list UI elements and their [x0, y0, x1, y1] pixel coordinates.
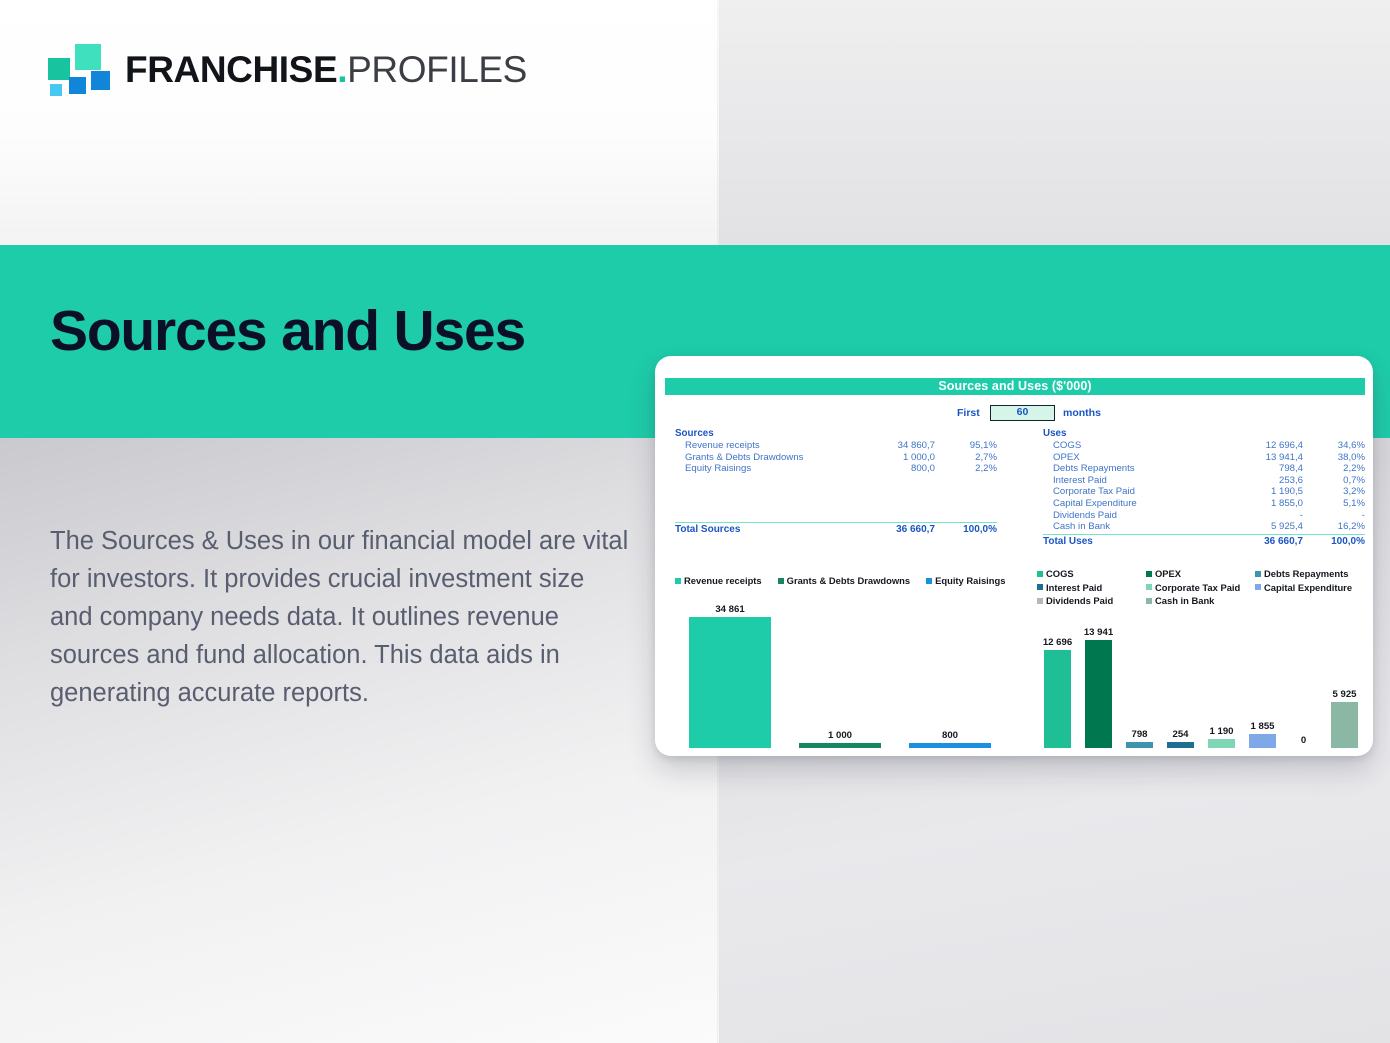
- row-value: 798,4: [1218, 463, 1309, 474]
- sources-table-spacer: [675, 475, 997, 521]
- legend-item: Cash in Bank: [1146, 595, 1255, 606]
- row-value: 5 925,4: [1218, 521, 1309, 532]
- total-label: Total Sources: [675, 524, 850, 535]
- legend-label: Debts Repayments: [1264, 568, 1348, 579]
- row-value: 12 696,4: [1218, 440, 1309, 451]
- total-percent: 100,0%: [1309, 536, 1365, 547]
- brand-name-bold: FRANCHISE: [125, 49, 337, 90]
- period-control-row: First 60 months: [665, 405, 1365, 421]
- sources-bar-chart: 34 8611 000800: [675, 600, 1005, 748]
- legend-item: OPEX: [1146, 568, 1255, 579]
- legend-item: Interest Paid: [1037, 582, 1146, 593]
- legend-swatch-icon: [1255, 571, 1261, 577]
- bar-slot: 800: [895, 600, 1005, 748]
- row-label: OPEX: [1043, 452, 1218, 463]
- row-percent: 34,6%: [1309, 440, 1365, 451]
- sources-table-header: Sources: [675, 428, 997, 440]
- legend-row: Dividends PaidCash in Bank: [1037, 595, 1365, 606]
- table-row: Debts Repayments 798,4 2,2%: [1043, 463, 1365, 475]
- bar: [1208, 739, 1235, 748]
- bar-value-label: 12 696: [1043, 637, 1072, 648]
- sources-bars: 34 8611 000800: [675, 600, 1005, 748]
- uses-table-header: Uses: [1043, 428, 1365, 440]
- row-value: 34 860,7: [850, 440, 941, 451]
- bar: [1126, 742, 1153, 748]
- spreadsheet-card: Sources and Uses ($'000) First 60 months…: [655, 356, 1373, 756]
- bar-value-label: 0: [1301, 735, 1306, 746]
- background-panel-top-left: [0, 0, 719, 246]
- table-row: Equity Raisings 800,0 2,2%: [675, 463, 997, 475]
- row-value: 13 941,4: [1218, 452, 1309, 463]
- legend-item: COGS: [1037, 568, 1146, 579]
- uses-table: Uses COGS 12 696,4 34,6% OPEX 13 941,4 3…: [1043, 428, 1365, 547]
- sources-chart-legend: Revenue receiptsGrants & Debts Drawdowns…: [675, 575, 1005, 586]
- row-label: Equity Raisings: [675, 463, 850, 474]
- legend-label: Capital Expenditure: [1264, 582, 1352, 593]
- bar: [1249, 734, 1276, 748]
- bar-value-label: 13 941: [1084, 627, 1113, 638]
- legend-label: Revenue receipts: [684, 575, 762, 586]
- bar-value-label: 5 925: [1332, 689, 1356, 700]
- uses-bars: 12 69613 9417982541 1901 85505 925: [1037, 608, 1365, 748]
- row-value: 1 855,0: [1218, 498, 1309, 509]
- background-panel-top-right: [719, 0, 1390, 246]
- legend-swatch-icon: [1037, 598, 1043, 604]
- row-percent: -: [1309, 510, 1365, 521]
- table-row: Revenue receipts 34 860,7 95,1%: [675, 440, 997, 452]
- bar: [909, 743, 990, 748]
- period-suffix-label: months: [1063, 405, 1101, 421]
- slide-root: FRANCHISE.PROFILES Sources and Uses The …: [0, 0, 1390, 1043]
- brand-wordmark: FRANCHISE.PROFILES: [125, 51, 527, 88]
- legend-item: Equity Raisings: [926, 575, 1005, 586]
- legend-label: Corporate Tax Paid: [1155, 582, 1240, 593]
- table-row: Dividends Paid - -: [1043, 510, 1365, 522]
- legend-item: Grants & Debts Drawdowns: [778, 575, 910, 586]
- bar-value-label: 800: [942, 730, 958, 741]
- sources-table-rows: Revenue receipts 34 860,7 95,1% Grants &…: [675, 440, 997, 475]
- bar: [1167, 742, 1194, 748]
- legend-row: Interest PaidCorporate Tax PaidCapital E…: [1037, 582, 1365, 593]
- bar-slot: 798: [1119, 608, 1160, 748]
- row-percent: 2,2%: [1309, 463, 1365, 474]
- uses-bar-chart: 12 69613 9417982541 1901 85505 925: [1037, 608, 1365, 748]
- uses-chart-legend: COGSOPEXDebts RepaymentsInterest PaidCor…: [1037, 568, 1365, 609]
- bar-slot: 34 861: [675, 600, 785, 748]
- bar-slot: 12 696: [1037, 608, 1078, 748]
- legend-label: OPEX: [1155, 568, 1181, 579]
- legend-label: Dividends Paid: [1046, 595, 1113, 606]
- brand-logo: FRANCHISE.PROFILES: [48, 44, 527, 94]
- row-label: Cash in Bank: [1043, 521, 1218, 532]
- total-value: 36 660,7: [1218, 536, 1309, 547]
- row-label: Capital Expenditure: [1043, 498, 1218, 509]
- legend-swatch-icon: [926, 578, 932, 584]
- bar-slot: 0: [1283, 608, 1324, 748]
- sources-total-row: Total Sources 36 660,7 100,0%: [675, 522, 997, 535]
- bar-slot: 1 190: [1201, 608, 1242, 748]
- spreadsheet-sheet: Sources and Uses ($'000) First 60 months…: [665, 378, 1365, 748]
- page-title: Sources and Uses: [50, 300, 525, 363]
- row-percent: 3,2%: [1309, 486, 1365, 497]
- legend-item: Dividends Paid: [1037, 595, 1146, 606]
- legend-swatch-icon: [778, 578, 784, 584]
- row-percent: 0,7%: [1309, 475, 1365, 486]
- row-value: 253,6: [1218, 475, 1309, 486]
- legend-label: COGS: [1046, 568, 1074, 579]
- table-row: Interest Paid 253,6 0,7%: [1043, 475, 1365, 487]
- row-value: 1 000,0: [850, 452, 941, 463]
- row-label: Revenue receipts: [675, 440, 850, 451]
- period-months-input[interactable]: 60: [990, 405, 1055, 421]
- legend-swatch-icon: [1255, 584, 1261, 590]
- bar-slot: 254: [1160, 608, 1201, 748]
- row-percent: 5,1%: [1309, 498, 1365, 509]
- body-paragraph: The Sources & Uses in our financial mode…: [50, 522, 630, 712]
- legend-label: Cash in Bank: [1155, 595, 1214, 606]
- period-prefix-label: First: [957, 405, 980, 421]
- total-label: Total Uses: [1043, 536, 1218, 547]
- legend-item: Revenue receipts: [675, 575, 762, 586]
- bar-value-label: 1 190: [1209, 726, 1233, 737]
- bar-slot: 5 925: [1324, 608, 1365, 748]
- legend-label: Grants & Debts Drawdowns: [787, 575, 910, 586]
- bar-value-label: 34 861: [715, 604, 744, 615]
- row-percent: 95,1%: [941, 440, 997, 451]
- row-value: -: [1218, 510, 1309, 521]
- sources-table: Sources Revenue receipts 34 860,7 95,1% …: [675, 428, 997, 535]
- legend-row: COGSOPEXDebts Repayments: [1037, 568, 1365, 579]
- row-value: 1 190,5: [1218, 486, 1309, 497]
- bar: [689, 617, 770, 748]
- table-row: OPEX 13 941,4 38,0%: [1043, 452, 1365, 464]
- legend-label: Interest Paid: [1046, 582, 1102, 593]
- bar: [1044, 650, 1071, 748]
- row-label: Corporate Tax Paid: [1043, 486, 1218, 497]
- bar-slot: 1 855: [1242, 608, 1283, 748]
- bar-value-label: 1 855: [1250, 721, 1274, 732]
- legend-label: Equity Raisings: [935, 575, 1005, 586]
- row-percent: 2,2%: [941, 463, 997, 474]
- legend-item: Capital Expenditure: [1255, 582, 1364, 593]
- bar: [799, 743, 880, 748]
- row-label: COGS: [1043, 440, 1218, 451]
- table-row: COGS 12 696,4 34,6%: [1043, 440, 1365, 452]
- legend-item: Debts Repayments: [1255, 568, 1364, 579]
- legend-swatch-icon: [1146, 571, 1152, 577]
- row-value: 800,0: [850, 463, 941, 474]
- brand-name-thin: PROFILES: [347, 49, 527, 90]
- bar-slot: 13 941: [1078, 608, 1119, 748]
- row-percent: 2,7%: [941, 452, 997, 463]
- legend-swatch-icon: [1037, 584, 1043, 590]
- row-label: Grants & Debts Drawdowns: [675, 452, 850, 463]
- bar: [1331, 702, 1358, 748]
- row-percent: 38,0%: [1309, 452, 1365, 463]
- bar: [1085, 640, 1112, 748]
- row-label: Debts Repayments: [1043, 463, 1218, 474]
- legend-swatch-icon: [1037, 571, 1043, 577]
- table-row: Corporate Tax Paid 1 190,5 3,2%: [1043, 486, 1365, 498]
- legend-item: Corporate Tax Paid: [1146, 582, 1255, 593]
- total-percent: 100,0%: [941, 524, 997, 535]
- table-row: Capital Expenditure 1 855,0 5,1%: [1043, 498, 1365, 510]
- bar-value-label: 1 000: [828, 730, 852, 741]
- legend-swatch-icon: [675, 578, 681, 584]
- bar-value-label: 254: [1172, 729, 1188, 740]
- brand-name-dot: .: [337, 49, 347, 90]
- legend-swatch-icon: [1146, 598, 1152, 604]
- uses-table-rows: COGS 12 696,4 34,6% OPEX 13 941,4 38,0% …: [1043, 440, 1365, 533]
- row-percent: 16,2%: [1309, 521, 1365, 532]
- logo-squares-icon: [48, 44, 110, 94]
- bar-value-label: 798: [1131, 729, 1147, 740]
- uses-total-row: Total Uses 36 660,7 100,0%: [1043, 534, 1365, 547]
- sheet-title-bar: Sources and Uses ($'000): [665, 378, 1365, 395]
- row-label: Dividends Paid: [1043, 510, 1218, 521]
- table-row: Cash in Bank 5 925,4 16,2%: [1043, 521, 1365, 533]
- legend-swatch-icon: [1146, 584, 1152, 590]
- bar-slot: 1 000: [785, 600, 895, 748]
- row-label: Interest Paid: [1043, 475, 1218, 486]
- total-value: 36 660,7: [850, 524, 941, 535]
- table-row: Grants & Debts Drawdowns 1 000,0 2,7%: [675, 452, 997, 464]
